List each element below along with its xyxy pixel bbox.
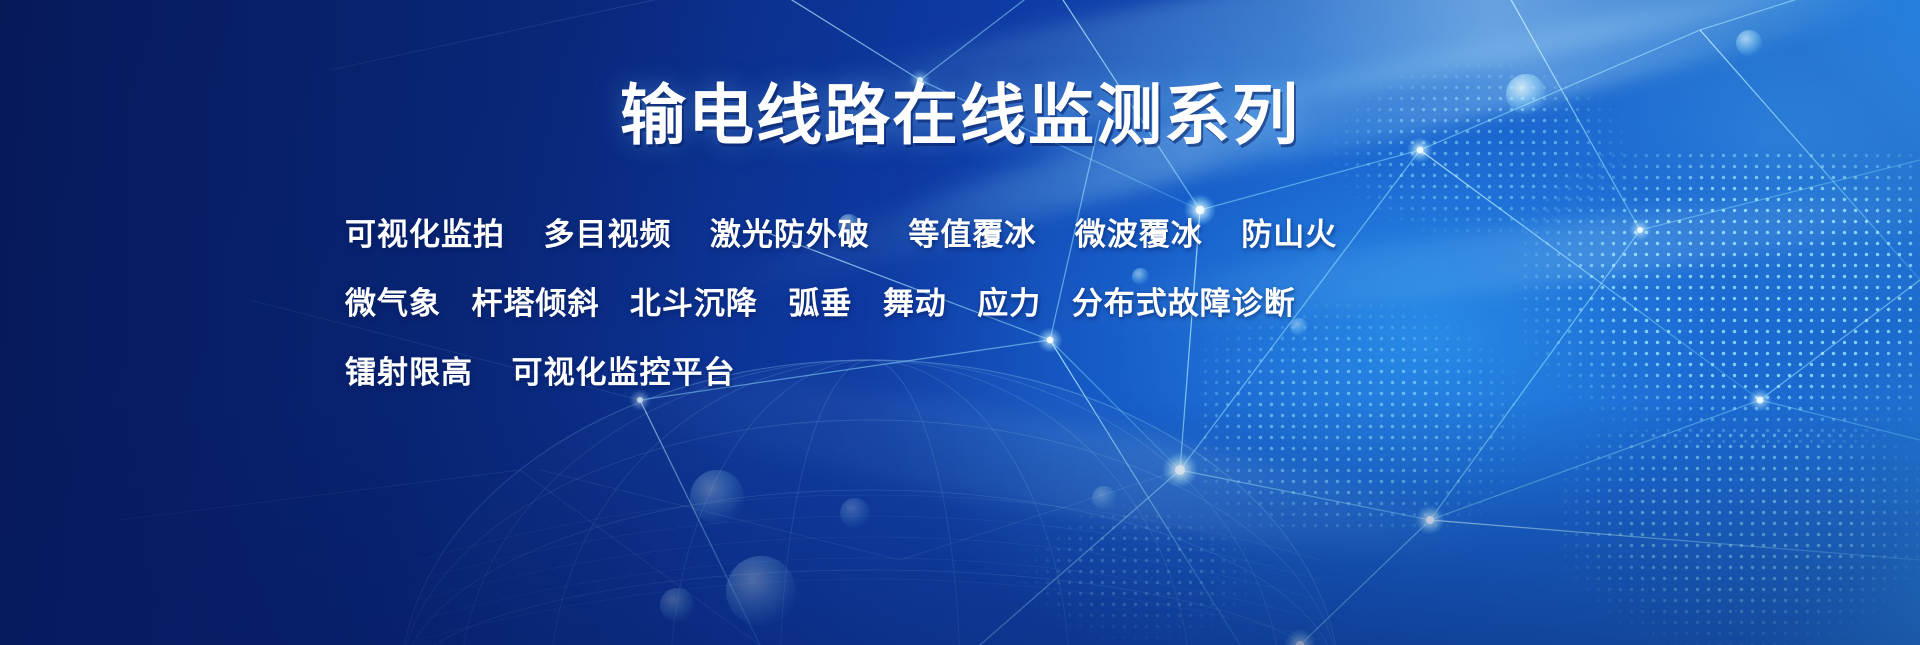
keyword-row-1: 可视化监拍 多目视频 激光防外破 等值覆冰 微波覆冰 防山火: [345, 200, 1345, 269]
keyword-item[interactable]: 弧垂: [788, 269, 852, 338]
keyword-item[interactable]: 北斗沉降: [630, 269, 758, 338]
keyword-item[interactable]: 多目视频: [543, 200, 671, 269]
keyword-row-2: 微气象 杆塔倾斜 北斗沉降 弧垂 舞动 应力 分布式故障诊断: [345, 269, 1345, 338]
keyword-item[interactable]: 可视化监控平台: [511, 338, 735, 407]
keyword-item[interactable]: 镭射限高: [345, 338, 473, 407]
page-title: 输电线路在线监测系列: [0, 82, 1920, 148]
keyword-item[interactable]: 等值覆冰: [908, 200, 1036, 269]
keyword-item[interactable]: 应力: [977, 269, 1041, 338]
banner-content: 输电线路在线监测系列 可视化监拍 多目视频 激光防外破 等值覆冰 微波覆冰 防山…: [0, 0, 1920, 645]
keyword-item[interactable]: 杆塔倾斜: [471, 269, 599, 338]
keyword-item[interactable]: 防山火: [1241, 200, 1337, 269]
keyword-item[interactable]: 微波覆冰: [1075, 200, 1203, 269]
keyword-item[interactable]: 激光防外破: [710, 200, 870, 269]
hero-banner: 输电线路在线监测系列 可视化监拍 多目视频 激光防外破 等值覆冰 微波覆冰 防山…: [0, 0, 1920, 645]
keyword-item[interactable]: 舞动: [883, 269, 947, 338]
keyword-item[interactable]: 分布式故障诊断: [1072, 269, 1296, 338]
keyword-item[interactable]: 可视化监拍: [345, 200, 505, 269]
keyword-row-3: 镭射限高 可视化监控平台: [345, 338, 1345, 407]
keyword-list: 可视化监拍 多目视频 激光防外破 等值覆冰 微波覆冰 防山火 微气象 杆塔倾斜 …: [345, 200, 1345, 407]
keyword-item[interactable]: 微气象: [345, 269, 441, 338]
